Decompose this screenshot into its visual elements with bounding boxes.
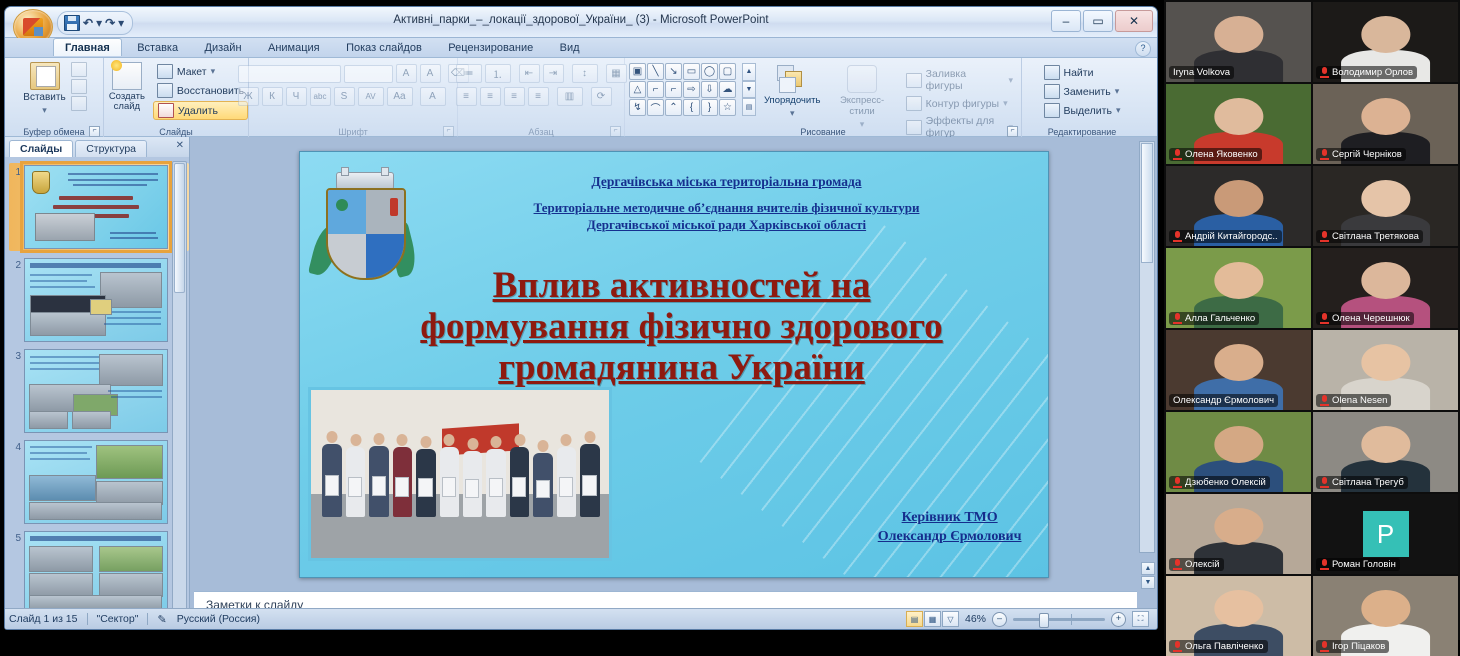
slide-signoff-line2: Олександр Єрмолович: [878, 528, 1022, 547]
participant-face: [1214, 508, 1263, 545]
participant-name-badge: Світлана Третякова: [1316, 230, 1423, 243]
slide-title-line2: формування фізично здорового: [340, 306, 1024, 347]
slide-sorter-view-button[interactable]: ▦: [924, 611, 941, 627]
participant-face: [1214, 426, 1263, 463]
mic-muted-icon: [1320, 149, 1329, 160]
shape-outline-button[interactable]: Контур фигуры ▾: [902, 95, 1017, 112]
slide-header-line3: Дергачівської міської ради Харківської о…: [430, 216, 1024, 234]
mic-muted-icon: [1173, 641, 1182, 652]
view-buttons: ▤ ▦ ▽: [906, 611, 959, 627]
zoom-slider[interactable]: [1013, 618, 1105, 621]
close-pane-icon[interactable]: ✕: [176, 140, 184, 151]
bullets-icon[interactable]: ≔: [456, 64, 482, 83]
arrange-button[interactable]: Упорядочить ▾: [762, 63, 822, 121]
slide-thumbnail-4-preview: [24, 440, 168, 524]
participant-face: [1361, 344, 1410, 381]
shape-fill-label: Заливка фигуры: [926, 68, 1005, 92]
participant-name: Iryna Volkova: [1173, 67, 1230, 78]
slide-thumbnail-3[interactable]: 3: [9, 349, 189, 433]
change-case-button[interactable]: Aa: [387, 87, 413, 106]
slide-header: Дергачівська міська територіальна громад…: [430, 174, 1024, 234]
participant-face: [1361, 16, 1410, 53]
select-dropdown-icon[interactable]: ▾: [1116, 105, 1121, 116]
paragraph-group-label: Абзац: [458, 127, 624, 137]
participant-tile[interactable]: Сергій Черніков: [1313, 84, 1458, 164]
text-direction-icon[interactable]: ⟳: [591, 87, 612, 106]
paste-label: Вставить: [23, 92, 65, 103]
participant-name-badge: Олександр Єрмолович: [1169, 394, 1278, 407]
language-indicator[interactable]: Русский (Россия): [177, 613, 260, 625]
participant-tile[interactable]: Дзюбенко Олексій: [1166, 412, 1311, 492]
tab-animation[interactable]: Анимация: [257, 39, 331, 56]
copy-icon[interactable]: [71, 79, 87, 94]
tab-view[interactable]: Вид: [549, 39, 591, 56]
slide-thumbnail-list[interactable]: 1: [5, 157, 189, 630]
slide-thumbnail-2[interactable]: 2: [9, 258, 189, 342]
tab-design[interactable]: Дизайн: [194, 39, 253, 56]
layout-icon: [157, 64, 173, 79]
replace-icon: [1044, 84, 1060, 99]
bold-button[interactable]: Ж: [238, 87, 259, 106]
slide-title-line1: Вплив активностей на: [340, 265, 1024, 306]
layout-dropdown-icon[interactable]: ▾: [211, 66, 216, 77]
participant-name-badge: Володимир Орлов: [1316, 66, 1417, 79]
shape-left-brace-icon[interactable]: {: [683, 99, 700, 116]
participant-name-badge: Олексій: [1169, 558, 1224, 571]
shrink-font-button[interactable]: A: [420, 64, 441, 83]
font-dialog-launcher[interactable]: ⌐: [443, 126, 454, 137]
shapes-scroll-down-icon[interactable]: ▼: [742, 81, 756, 99]
increase-indent-icon[interactable]: ⇥: [543, 64, 564, 83]
participant-name-badge: Олена Яковенко: [1169, 148, 1262, 161]
participant-name: Роман Головін: [1332, 559, 1396, 570]
mic-muted-icon: [1173, 559, 1182, 570]
participant-tile[interactable]: Олексій: [1166, 494, 1311, 574]
participant-name-badge: Iryna Volkova: [1169, 66, 1234, 79]
group-editing: Найти Заменить ▾ Выделить ▾: [1022, 58, 1142, 138]
columns-icon[interactable]: ▥: [557, 87, 583, 106]
mic-muted-icon: [1320, 67, 1329, 78]
tab-review[interactable]: Рецензирование: [437, 39, 544, 56]
slide-thumbnail-2-preview: [24, 258, 168, 342]
delete-label: Удалить: [178, 105, 218, 117]
screen: ↶ ▾ ↷ ▾ Активні_парки_–_локації_здорової…: [0, 0, 1460, 640]
paragraph-dialog-launcher[interactable]: ⌐: [610, 126, 621, 137]
participant-name: Ігор Піцаков: [1332, 641, 1385, 652]
status-bar-right: ▤ ▦ ▽ 46% – + ⛶: [906, 611, 1153, 627]
paste-icon: [30, 62, 60, 90]
mic-muted-icon: [1320, 231, 1329, 242]
participant-name: Олександр Єрмолович: [1173, 395, 1274, 406]
slide-thumbnail-1[interactable]: 1: [9, 163, 189, 251]
slide-scrollbar-thumb[interactable]: [1141, 143, 1153, 263]
participant-face: [1214, 590, 1263, 627]
slide-vertical-scrollbar[interactable]: [1139, 141, 1155, 553]
quick-styles-icon: [847, 65, 877, 93]
shape-right-brace-icon[interactable]: }: [701, 99, 718, 116]
participant-tile[interactable]: Володимир Орлов: [1313, 2, 1458, 82]
ribbon: Вставить ▾ Буфер обмена ⌐: [5, 58, 1157, 137]
pane-tab-slides[interactable]: Слайды: [9, 140, 73, 157]
participant-face: [1214, 98, 1263, 135]
shape-rectangle-icon[interactable]: ▭: [683, 63, 700, 80]
delete-slide-button[interactable]: Удалить: [153, 101, 248, 120]
powerpoint-window: ↶ ▾ ↷ ▾ Активні_парки_–_локації_здорової…: [4, 6, 1158, 630]
arrange-icon: [777, 65, 807, 93]
slide-title-line3: громадянина України: [340, 347, 1024, 388]
character-spacing-button[interactable]: AV: [358, 87, 384, 106]
new-slide-button[interactable]: Создать слайд: [104, 60, 150, 115]
shape-arrow-icon[interactable]: ↘: [665, 63, 682, 80]
help-icon[interactable]: ?: [1135, 41, 1151, 57]
shape-arc-icon[interactable]: ⌃: [665, 99, 682, 116]
justify-icon[interactable]: ≡: [528, 87, 549, 106]
paste-button[interactable]: Вставить ▾: [22, 60, 68, 118]
participant-name: Світлана Третякова: [1332, 231, 1419, 242]
slide-thumbnail-3-preview: [24, 349, 168, 433]
shapes-gallery[interactable]: ▣ ╲ ↘ ▭ ◯ ▢ △ ⌐ ⌐ ⇨ ⇩ ☁ ↯ ⌒ ⌃: [629, 63, 736, 116]
shape-down-arrow-icon[interactable]: ⇩: [701, 81, 718, 98]
smartart-icon[interactable]: ▦: [606, 64, 627, 83]
layout-label: Макет: [177, 66, 207, 78]
participant-tile[interactable]: Андрій Китайгородс..: [1166, 166, 1311, 246]
participant-name-badge: Олена Черешнюк: [1316, 312, 1414, 325]
work-area: Слайды Структура ✕ 1: [5, 137, 1157, 630]
shape-elbow-icon[interactable]: ⌐: [647, 81, 664, 98]
quick-styles-label: Экспресс-стили: [828, 95, 895, 117]
theme-name[interactable]: "Сектор": [97, 613, 139, 625]
shape-oval-icon[interactable]: ◯: [701, 63, 718, 80]
participant-tile[interactable]: Олена Черешнюк: [1313, 248, 1458, 328]
participant-face: [1214, 16, 1263, 53]
participant-avatar: Р: [1363, 511, 1409, 557]
participant-name: Дзюбенко Олексій: [1185, 477, 1266, 488]
slide-nav-buttons: ▲ ▼: [1141, 562, 1155, 589]
slide-thumbnail-4[interactable]: 4: [9, 440, 189, 524]
find-icon: [1044, 65, 1060, 80]
participant-name: Андрій Китайгородс..: [1185, 231, 1278, 242]
group-paragraph: ≔ ⒈ ⇤ ⇥ ↕ ▦ ≡ ≡ ≡ ≡ ▥ ⟳: [458, 58, 625, 138]
group-slides: Создать слайд Макет ▾ Восстановить: [104, 58, 249, 138]
mic-muted-icon: [1173, 313, 1182, 324]
slides-group-label: Слайды: [104, 127, 248, 137]
participant-name-badge: Роман Головін: [1316, 558, 1400, 571]
paste-dropdown-icon[interactable]: ▾: [42, 105, 47, 116]
normal-view-button[interactable]: ▤: [906, 611, 923, 627]
participant-name-badge: Дзюбенко Олексій: [1169, 476, 1270, 489]
align-left-icon[interactable]: ≡: [456, 87, 477, 106]
font-size-combobox[interactable]: [344, 65, 393, 83]
pane-tab-outline[interactable]: Структура: [75, 140, 147, 157]
tab-insert[interactable]: Вставка: [126, 39, 189, 56]
group-font: A A ⌫ Ж К Ч abc S AV Aa A Шриф: [249, 58, 458, 138]
select-label: Выделить: [1064, 105, 1112, 117]
font-name-combobox[interactable]: [238, 65, 341, 83]
mic-muted-icon: [1320, 395, 1329, 406]
slide-canvas[interactable]: Дергачівська міська територіальна громад…: [299, 151, 1049, 578]
replace-label: Заменить: [1064, 86, 1111, 98]
participant-name-badge: Ігор Піцаков: [1316, 640, 1389, 653]
mic-muted-icon: [1320, 313, 1329, 324]
replace-button[interactable]: Заменить ▾: [1040, 83, 1125, 100]
slides-pane: Слайды Структура ✕ 1: [5, 137, 190, 630]
participant-tile[interactable]: Ігор Піцаков: [1313, 576, 1458, 656]
next-slide-button[interactable]: ▼: [1141, 576, 1155, 589]
slides-pane-scrollbar[interactable]: [172, 161, 187, 628]
previous-slide-button[interactable]: ▲: [1141, 562, 1155, 575]
italic-button[interactable]: К: [262, 87, 283, 106]
slide-thumbnail-5[interactable]: 5: [9, 531, 189, 615]
layout-button[interactable]: Макет ▾: [153, 63, 248, 80]
participant-name: Володимир Орлов: [1332, 67, 1413, 78]
clipboard-dialog-launcher[interactable]: ⌐: [89, 126, 100, 137]
fit-to-window-button[interactable]: ⛶: [1132, 611, 1149, 627]
new-slide-label: Создать слайд: [104, 92, 150, 113]
select-icon: [1044, 103, 1060, 118]
participant-name-badge: Світлана Трегуб: [1316, 476, 1408, 489]
shape-fill-dropdown-icon[interactable]: ▾: [1008, 75, 1013, 86]
window-controls: – ▭ ✕: [1051, 10, 1153, 32]
strikethrough-button[interactable]: abc: [310, 87, 331, 106]
mic-muted-icon: [1173, 149, 1182, 160]
group-clipboard: Вставить ▾ Буфер обмена ⌐: [5, 58, 104, 138]
slide-number-2: 2: [9, 258, 21, 271]
slide-header-line1: Дергачівська міська територіальна громад…: [430, 174, 1024, 190]
select-button[interactable]: Выделить ▾: [1040, 102, 1125, 119]
decrease-indent-icon[interactable]: ⇤: [519, 64, 540, 83]
spellcheck-icon[interactable]: ✎: [157, 613, 166, 626]
participant-face: [1361, 590, 1410, 627]
editing-group-label: Редактирование: [1022, 127, 1142, 137]
shapes-scroll-up-icon[interactable]: ▲: [742, 63, 756, 81]
grow-font-button[interactable]: A: [396, 64, 417, 83]
slide-signoff: Керівник ТМО Олександр Єрмолович: [878, 509, 1022, 547]
drawing-dialog-launcher[interactable]: ⌐: [1007, 126, 1018, 137]
shape-outline-label: Контур фигуры: [926, 98, 999, 110]
underline-button[interactable]: Ч: [286, 87, 307, 106]
slides-pane-tabs: Слайды Структура ✕: [5, 137, 189, 157]
font-color-button[interactable]: A: [420, 87, 446, 106]
shape-freeform-icon[interactable]: ↯: [629, 99, 646, 116]
align-right-icon[interactable]: ≡: [504, 87, 525, 106]
shapes-more-icon[interactable]: ▤: [742, 98, 756, 116]
mic-muted-icon: [1320, 641, 1329, 652]
drawing-group-label: Рисование: [625, 127, 1021, 137]
slides-pane-scrollbar-thumb[interactable]: [174, 163, 185, 293]
quick-styles-button[interactable]: Экспресс-стили ▾: [828, 63, 895, 132]
participant-tile[interactable]: Олена Яковенко: [1166, 84, 1311, 164]
window-title: Активні_парки_–_локації_здорової_України…: [5, 14, 1157, 26]
participant-name: Олена Яковенко: [1185, 149, 1258, 160]
participant-tile[interactable]: Ольга Павліченко: [1166, 576, 1311, 656]
participant-face: [1214, 180, 1263, 217]
shape-cloud-icon[interactable]: ☁: [719, 81, 736, 98]
slide-counter: Слайд 1 из 15: [9, 613, 78, 625]
shape-line-icon[interactable]: ╲: [647, 63, 664, 80]
participant-face: [1361, 262, 1410, 299]
slide-stage: Дергачівська міська територіальна громад…: [190, 137, 1157, 591]
find-button[interactable]: Найти: [1040, 64, 1125, 81]
zoom-level: 46%: [965, 613, 986, 625]
participant-grid: Iryna VolkovaВолодимир ОрловОлена Яковен…: [1164, 0, 1460, 640]
shape-elbow-arrow-icon[interactable]: ⌐: [665, 81, 682, 98]
zoom-slider-knob[interactable]: [1039, 613, 1049, 628]
participant-name: Сергій Черніков: [1332, 149, 1402, 160]
participant-name: Олексій: [1185, 559, 1220, 570]
close-button[interactable]: ✕: [1115, 10, 1153, 32]
participant-tile[interactable]: Світлана Третякова: [1313, 166, 1458, 246]
align-center-icon[interactable]: ≡: [480, 87, 501, 106]
slide-number-3: 3: [9, 349, 21, 362]
shape-outline-dropdown-icon[interactable]: ▾: [1003, 98, 1008, 109]
format-painter-icon[interactable]: [71, 96, 87, 111]
minimize-button[interactable]: –: [1051, 10, 1081, 32]
slide-number-4: 4: [9, 440, 21, 453]
mic-muted-icon: [1320, 477, 1329, 488]
shape-star-icon[interactable]: ☆: [719, 99, 736, 116]
zoom-out-button[interactable]: –: [992, 612, 1007, 627]
participant-tile[interactable]: Iryna Volkova: [1166, 2, 1311, 82]
participant-face: [1361, 180, 1410, 217]
participant-name: Світлана Трегуб: [1332, 477, 1404, 488]
slide-group-photo: [308, 387, 612, 561]
shape-triangle-icon[interactable]: △: [629, 81, 646, 98]
slideshow-view-button[interactable]: ▽: [942, 611, 959, 627]
shape-curve-icon[interactable]: ⌒: [647, 99, 664, 116]
reset-icon: [157, 83, 173, 98]
reset-button[interactable]: Восстановить: [153, 82, 248, 99]
participant-face: [1361, 426, 1410, 463]
slide-header-line2: Територіальне методичне об’єднання вчите…: [430, 199, 1024, 217]
arrange-dropdown-icon[interactable]: ▾: [790, 108, 795, 119]
slide-thumbnail-5-preview: [24, 531, 168, 615]
participant-name-badge: Андрій Китайгородс..: [1169, 230, 1282, 243]
shape-outline-icon: [906, 96, 922, 111]
delete-icon: [158, 103, 174, 118]
tab-home[interactable]: Главная: [53, 38, 122, 56]
shape-textbox-icon[interactable]: ▣: [629, 63, 646, 80]
status-bar: Слайд 1 из 15 "Сектор" ✎ Русский (Россия…: [5, 608, 1157, 629]
shapes-gallery-scroller[interactable]: ▲ ▼ ▤: [742, 63, 756, 116]
shape-fill-icon: [906, 73, 922, 88]
ribbon-tab-bar: Главная Вставка Дизайн Анимация Показ сл…: [5, 38, 1157, 58]
participant-face: [1214, 344, 1263, 381]
numbering-icon[interactable]: ⒈: [485, 64, 511, 83]
participant-name: Алла Гальченко: [1185, 313, 1255, 324]
participant-name: Олена Черешнюк: [1332, 313, 1410, 324]
find-label: Найти: [1064, 67, 1094, 79]
participant-tile[interactable]: Olena Nesen: [1313, 330, 1458, 410]
mic-muted-icon: [1173, 231, 1182, 242]
font-group-label: Шрифт: [249, 127, 457, 137]
slide-thumbnail-1-preview: [24, 165, 168, 249]
cut-icon[interactable]: [71, 62, 87, 77]
reset-label: Восстановить: [177, 85, 244, 97]
participant-face: [1361, 98, 1410, 135]
participant-tile[interactable]: Олександр Єрмолович: [1166, 330, 1311, 410]
slide-number-1: 1: [9, 165, 21, 178]
tab-slideshow[interactable]: Показ слайдов: [335, 39, 433, 56]
new-slide-icon: [112, 62, 142, 90]
group-drawing: ▣ ╲ ↘ ▭ ◯ ▢ △ ⌐ ⌐ ⇨ ⇩ ☁ ↯ ⌒ ⌃: [625, 58, 1022, 138]
participant-name: Ольга Павліченко: [1185, 641, 1264, 652]
arrange-label: Упорядочить: [764, 95, 821, 106]
shape-fill-button[interactable]: Заливка фигуры ▾: [902, 67, 1017, 93]
participant-name: Olena Nesen: [1332, 395, 1387, 406]
shape-right-arrow-icon[interactable]: ⇨: [683, 81, 700, 98]
participant-name-badge: Алла Гальченко: [1169, 312, 1259, 325]
slide-number-5: 5: [9, 531, 21, 544]
replace-dropdown-icon[interactable]: ▾: [1115, 86, 1120, 97]
maximize-button[interactable]: ▭: [1083, 10, 1113, 32]
participant-face: [1214, 262, 1263, 299]
slide-signoff-line1: Керівник ТМО: [878, 509, 1022, 528]
mic-muted-icon: [1320, 559, 1329, 570]
slide-title: Вплив активностей на формування фізично …: [340, 265, 1024, 389]
line-spacing-icon[interactable]: ↕: [572, 64, 598, 83]
participant-tile[interactable]: Світлана Трегуб: [1313, 412, 1458, 492]
slide-editor: Дергачівська міська територіальна громад…: [190, 137, 1157, 630]
participant-tile[interactable]: РРоман Головін: [1313, 494, 1458, 574]
participant-tile[interactable]: Алла Гальченко: [1166, 248, 1311, 328]
participant-name-badge: Сергій Черніков: [1316, 148, 1406, 161]
text-shadow-button[interactable]: S: [334, 87, 355, 106]
zoom-in-button[interactable]: +: [1111, 612, 1126, 627]
shape-rounded-rect-icon[interactable]: ▢: [719, 63, 736, 80]
participant-name-badge: Olena Nesen: [1316, 394, 1391, 407]
title-bar: ↶ ▾ ↷ ▾ Активні_парки_–_локації_здорової…: [5, 7, 1157, 38]
mic-muted-icon: [1173, 477, 1182, 488]
participant-name-badge: Ольга Павліченко: [1169, 640, 1268, 653]
